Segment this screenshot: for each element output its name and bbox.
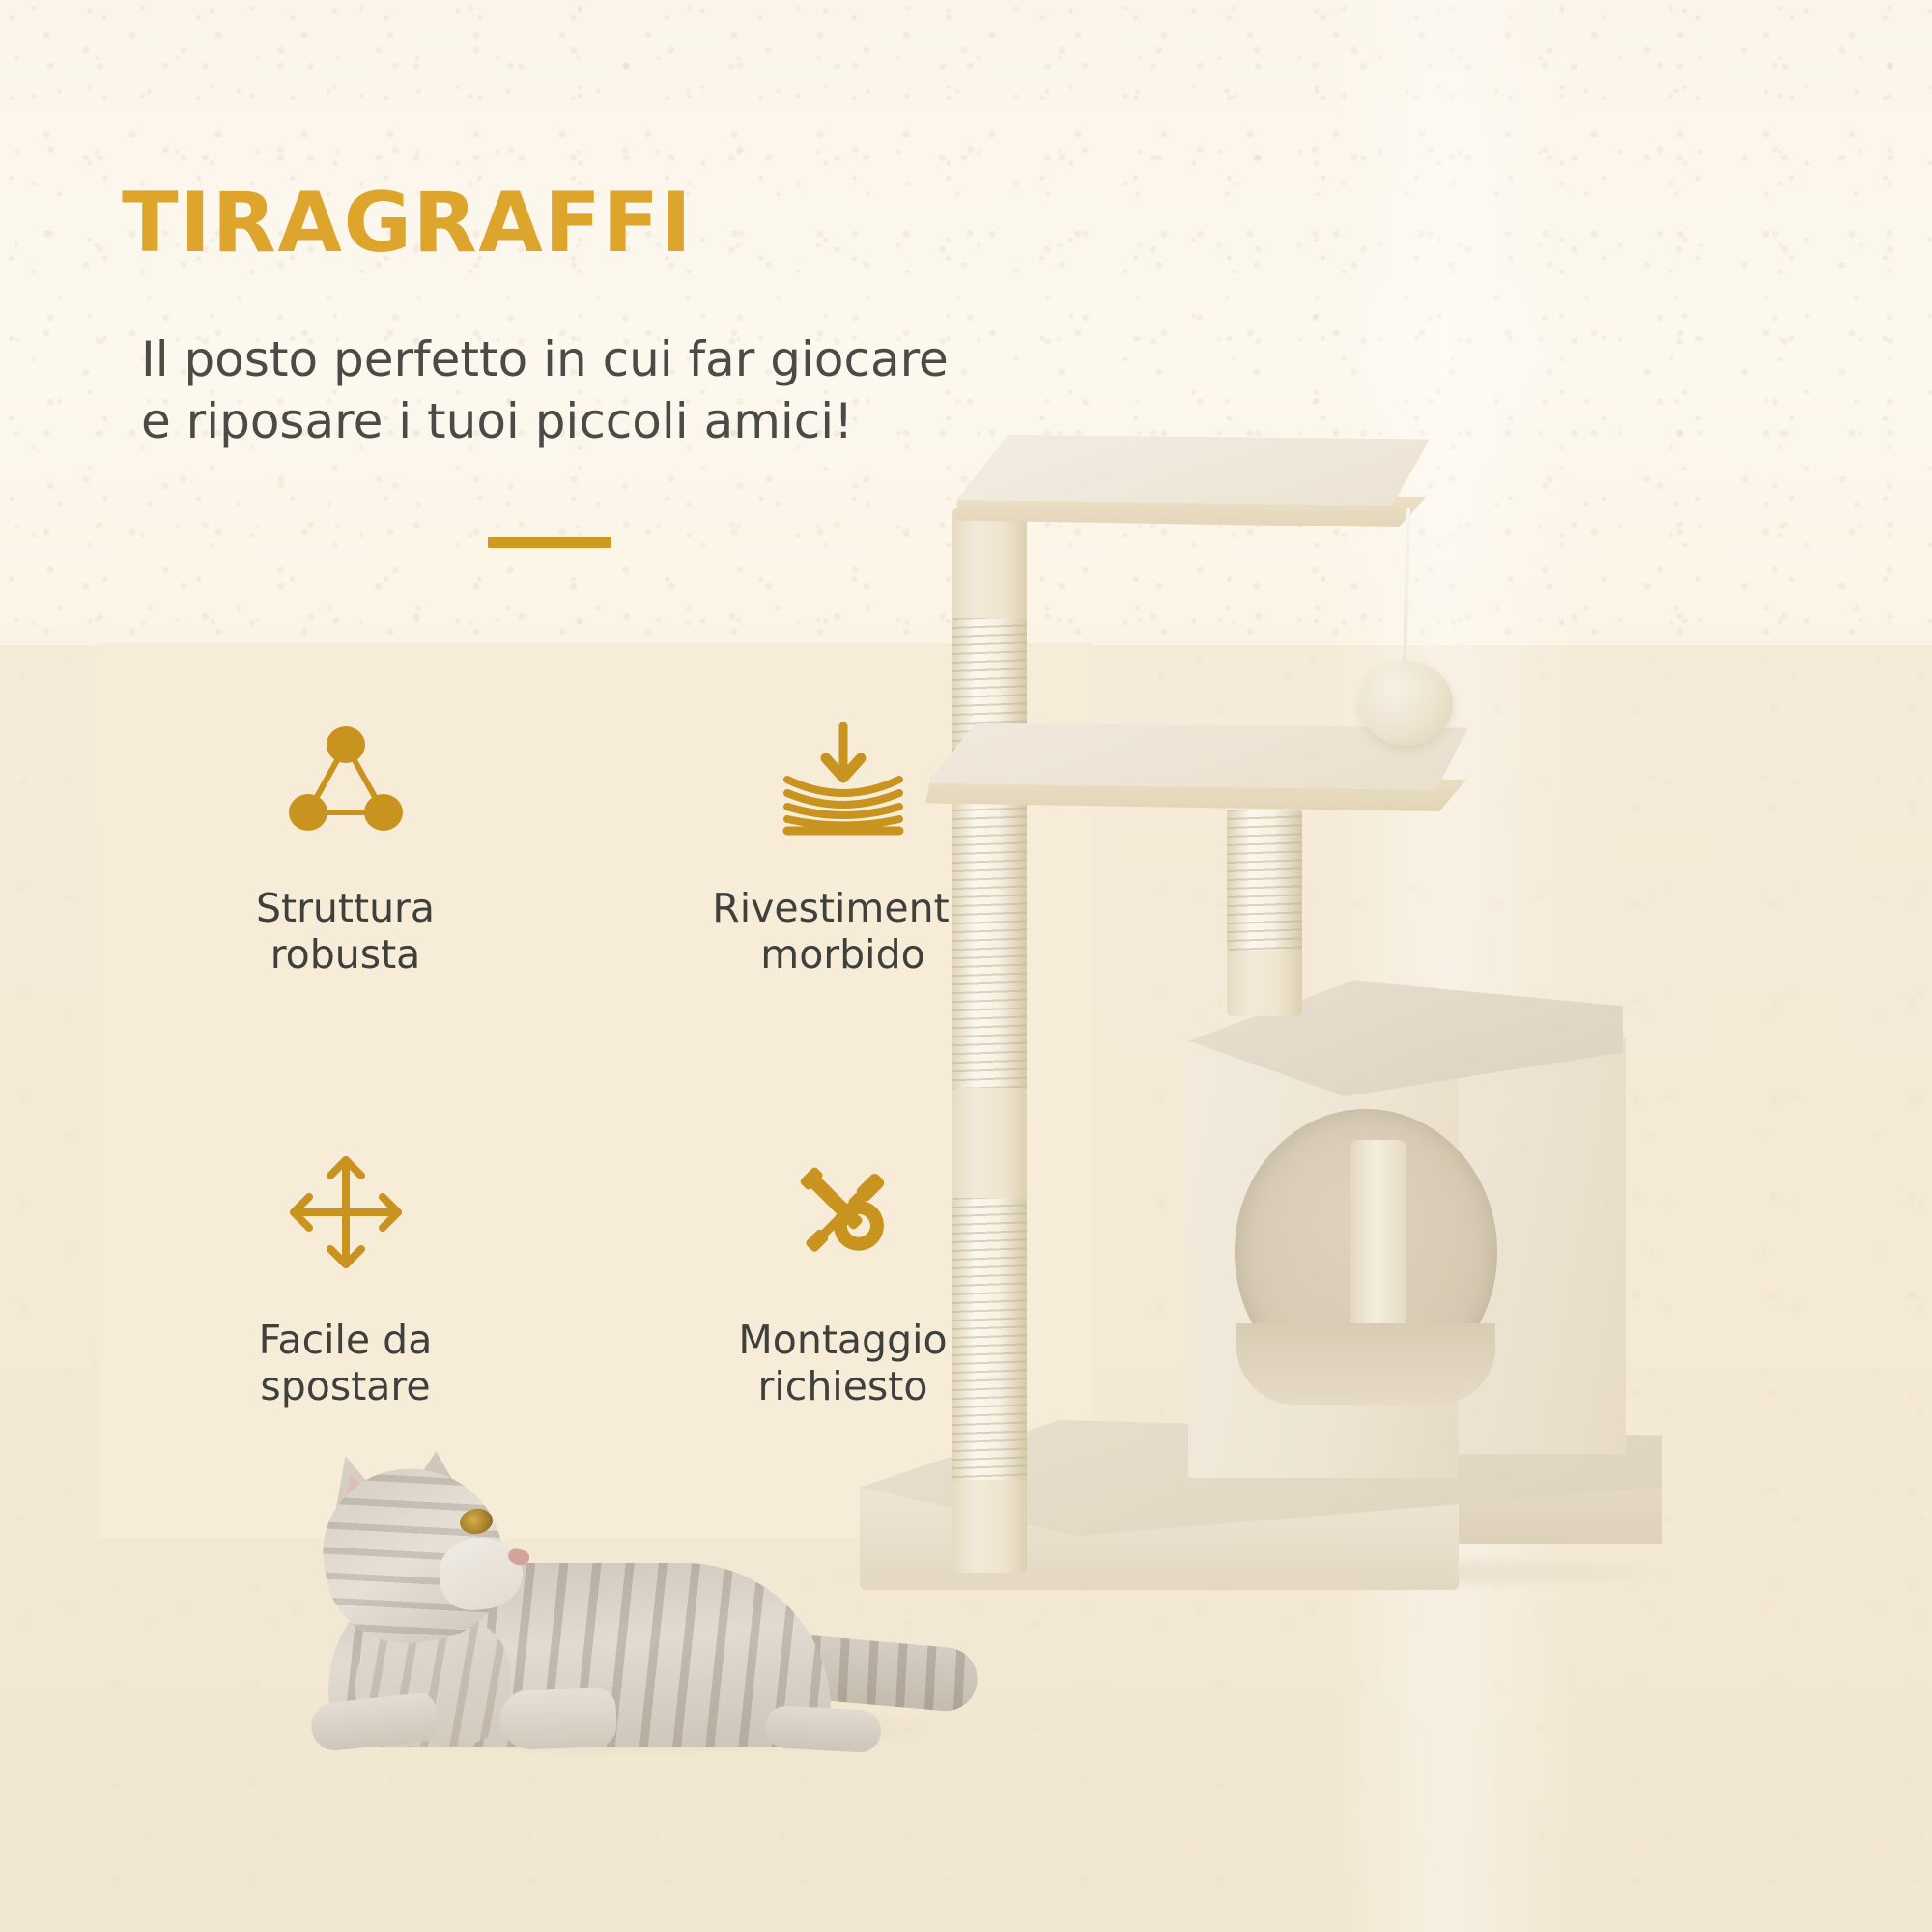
top-platform-top xyxy=(956,435,1430,506)
poster-canvas: TIRAGRAFFI Il posto perfetto in cui far … xyxy=(0,0,1932,1932)
cat-front-paw-right xyxy=(499,1687,617,1750)
grey-tabby-cat xyxy=(270,1449,966,1758)
soft-cushion-layers-icon xyxy=(771,719,916,842)
page-subtitle: Il posto perfetto in cui far giocare e r… xyxy=(141,328,991,452)
condo-sisal-post xyxy=(1227,810,1302,951)
page-title: TIRAGRAFFI xyxy=(122,182,693,265)
feature-label: Struttura robusta xyxy=(256,885,435,979)
subtitle-line-2: e riposare i tuoi piccoli amici! xyxy=(141,390,991,452)
gold-divider xyxy=(488,537,611,548)
wrench-screwdriver-icon xyxy=(771,1151,916,1274)
toy-string xyxy=(1403,508,1410,668)
sisal-scratching-post-upper xyxy=(952,618,1027,1092)
four-way-move-arrows-icon xyxy=(273,1151,418,1274)
subtitle-line-1: Il posto perfetto in cui far giocare xyxy=(141,328,991,390)
triangle-structure-icon xyxy=(273,719,418,842)
feature-item-struttura-robusta: Struttura robusta xyxy=(97,643,594,1091)
post-plush-segment-mid xyxy=(952,1088,1027,1204)
cat-tree-product xyxy=(898,425,1893,1797)
dangling-pom-pom-toy xyxy=(1360,661,1453,746)
condo-post-plush-base xyxy=(1227,945,1302,1016)
feature-label: Facile da spostare xyxy=(259,1317,433,1410)
post-plush-segment-top xyxy=(952,508,1027,624)
condo-interior-floor xyxy=(1236,1323,1495,1405)
sisal-scratching-post-lower xyxy=(952,1198,1027,1486)
cat-hind-paw xyxy=(764,1705,882,1753)
